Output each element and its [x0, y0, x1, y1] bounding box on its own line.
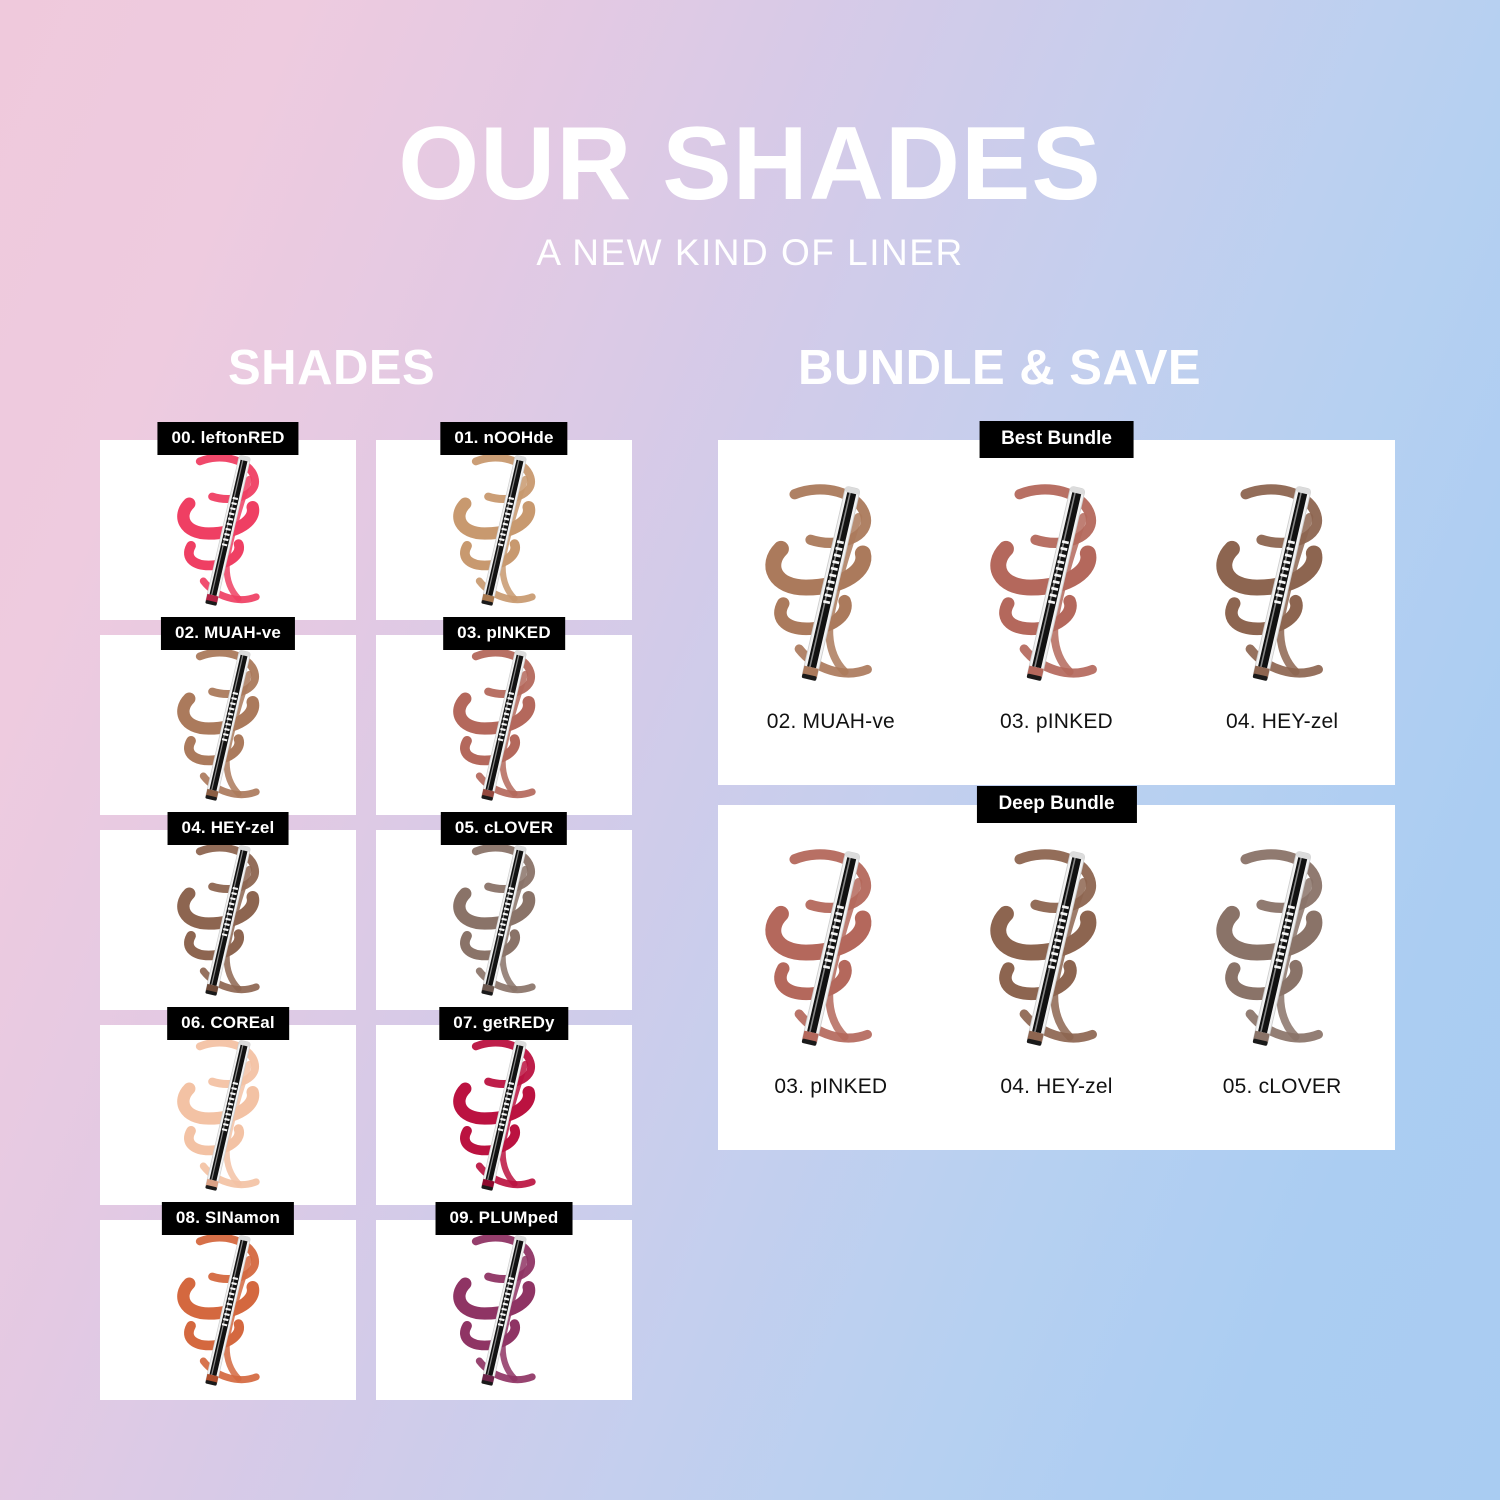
- shade-swatch: [376, 440, 632, 620]
- shade-swatch-art: [429, 1222, 579, 1398]
- shade-card[interactable]: 07. getREDy: [376, 1025, 632, 1205]
- bundle-item[interactable]: 03. pINKED: [726, 823, 936, 1099]
- bundle-items: 03. pINKED: [718, 805, 1395, 1150]
- shade-card[interactable]: 01. nOOHde: [376, 440, 632, 620]
- shade-swatch-art: [429, 1027, 579, 1203]
- bundle-item[interactable]: 04. HEY-zel: [1177, 458, 1387, 734]
- shade-swatch: [376, 635, 632, 815]
- shades-grid: 00. leftonRED 01. nOOH: [100, 440, 640, 1400]
- bundle-item-label: 05. cLOVER: [1223, 1075, 1342, 1099]
- shade-label-badge: 01. nOOHde: [440, 422, 567, 455]
- shade-swatch-art: [1191, 458, 1373, 708]
- shade-label-badge: 07. getREDy: [439, 1007, 568, 1040]
- shade-swatch-art: [740, 458, 922, 708]
- shade-label-badge: 08. SINamon: [162, 1202, 294, 1235]
- bundle-item-label: 04. HEY-zel: [1226, 710, 1338, 734]
- shade-swatch: [376, 1025, 632, 1205]
- bundle-swatch: [740, 458, 922, 708]
- shade-card[interactable]: 04. HEY-zel: [100, 830, 356, 1010]
- shade-swatch-art: [429, 637, 579, 813]
- shade-label-badge: 09. PLUMped: [436, 1202, 573, 1235]
- bundle-items: 02. MUAH-ve: [718, 440, 1395, 785]
- shade-card[interactable]: 02. MUAH-ve: [100, 635, 356, 815]
- shade-label-badge: 06. COREal: [167, 1007, 289, 1040]
- shade-swatch: [100, 1220, 356, 1400]
- shade-swatch: [376, 1220, 632, 1400]
- shade-swatch-art: [153, 442, 303, 618]
- bundle-item[interactable]: 04. HEY-zel: [951, 823, 1161, 1099]
- bundle-swatch: [965, 458, 1147, 708]
- shade-swatch: [100, 1025, 356, 1205]
- bundle-item-label: 04. HEY-zel: [1000, 1075, 1112, 1099]
- shade-label-badge: 02. MUAH-ve: [161, 617, 295, 650]
- shade-card[interactable]: 00. leftonRED: [100, 440, 356, 620]
- shade-card[interactable]: 03. pINKED: [376, 635, 632, 815]
- shade-label-badge: 00. leftonRED: [157, 422, 298, 455]
- shade-label-badge: 05. cLOVER: [441, 812, 567, 845]
- shade-label-badge: 04. HEY-zel: [168, 812, 289, 845]
- shade-card[interactable]: 09. PLUMped: [376, 1220, 632, 1400]
- bundle-item-label: 02. MUAH-ve: [767, 710, 895, 734]
- shade-swatch-art: [153, 832, 303, 1008]
- shade-swatch-art: [429, 832, 579, 1008]
- shade-swatch: [376, 830, 632, 1010]
- page-subtitle: A NEW KIND OF LINER: [0, 232, 1500, 274]
- bundle-section-title: BUNDLE & SAVE: [798, 340, 1201, 396]
- shade-swatch-art: [1191, 823, 1373, 1073]
- bundle-item[interactable]: 05. cLOVER: [1177, 823, 1387, 1099]
- shade-label-badge: 03. pINKED: [443, 617, 565, 650]
- shade-swatch: [100, 440, 356, 620]
- bundle-panel-best[interactable]: Best Bundle: [718, 440, 1395, 785]
- shade-swatch: [100, 635, 356, 815]
- shade-card[interactable]: 05. cLOVER: [376, 830, 632, 1010]
- shade-swatch-art: [153, 637, 303, 813]
- shades-section-title: SHADES: [228, 340, 435, 396]
- bundle-item[interactable]: 02. MUAH-ve: [726, 458, 936, 734]
- bundle-item-label: 03. pINKED: [1000, 710, 1113, 734]
- page-title: OUR SHADES: [0, 112, 1500, 216]
- bundle-badge: Deep Bundle: [976, 786, 1136, 823]
- bundle-swatch: [1191, 458, 1373, 708]
- bundle-badge: Best Bundle: [979, 421, 1134, 458]
- bundle-swatch: [740, 823, 922, 1073]
- bundle-swatch: [965, 823, 1147, 1073]
- shade-card[interactable]: 08. SINamon: [100, 1220, 356, 1400]
- page-header: OUR SHADES A NEW KIND OF LINER: [0, 0, 1500, 274]
- bundle-item[interactable]: 03. pINKED: [951, 458, 1161, 734]
- bundle-swatch: [1191, 823, 1373, 1073]
- shade-card[interactable]: 06. COREal: [100, 1025, 356, 1205]
- shade-swatch-art: [153, 1027, 303, 1203]
- shade-swatch-art: [965, 458, 1147, 708]
- shade-swatch-art: [153, 1222, 303, 1398]
- bundle-item-label: 03. pINKED: [774, 1075, 887, 1099]
- shade-swatch-art: [965, 823, 1147, 1073]
- bundle-panel-deep[interactable]: Deep Bundle: [718, 805, 1395, 1150]
- shade-swatch-art: [740, 823, 922, 1073]
- shade-swatch-art: [429, 442, 579, 618]
- shade-swatch: [100, 830, 356, 1010]
